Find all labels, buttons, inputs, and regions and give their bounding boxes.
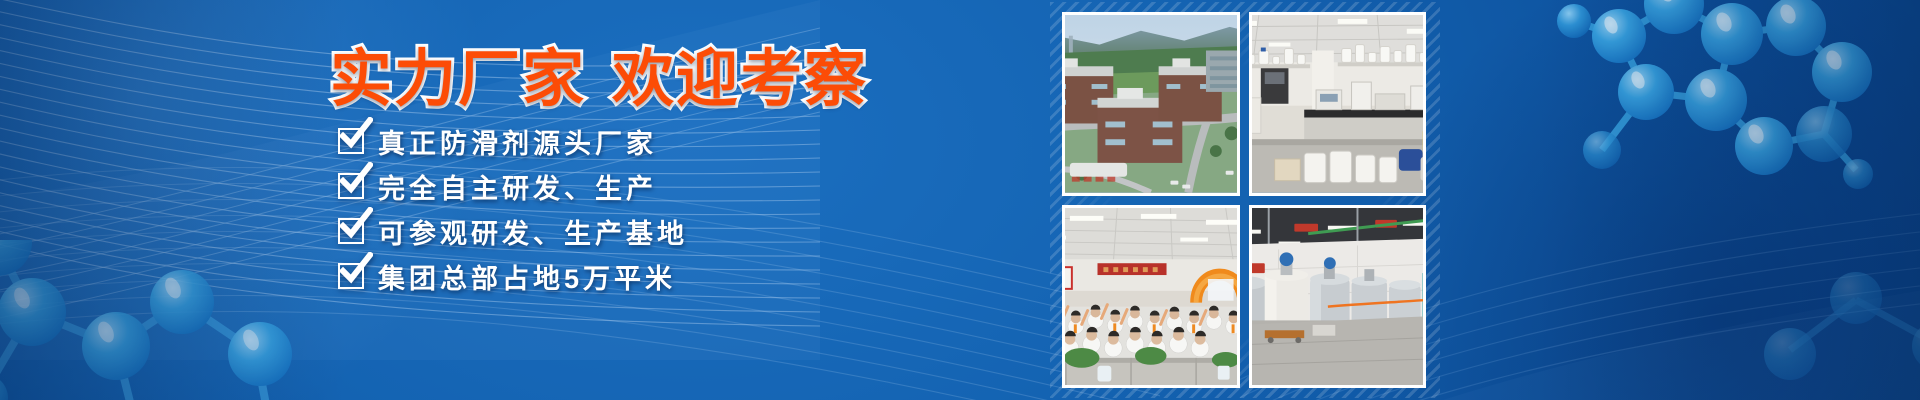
check-mark-icon (339, 162, 373, 196)
bottom-right-shadow (1340, 0, 1920, 400)
list-item: 真正防滑剂源头厂家 (338, 124, 688, 158)
list-item-label: 完全自主研发、生产 (378, 167, 657, 206)
laboratory-image (1252, 15, 1424, 193)
list-item-label: 集团总部占地5万平米 (378, 257, 676, 296)
list-item-label: 可参观研发、生产基地 (378, 212, 688, 251)
checkbox-checked-icon (338, 263, 364, 289)
checkbox-checked-icon (338, 173, 364, 199)
feature-list: 真正防滑剂源头厂家 完全自主研发、生产 可参观研发、生产基地 (338, 124, 688, 293)
list-item: 完全自主研发、生产 (338, 169, 688, 203)
list-item: 可参观研发、生产基地 (338, 214, 688, 248)
list-item: 集团总部占地5万平米 (338, 259, 688, 293)
check-mark-icon (339, 207, 373, 241)
headline-part-2: 欢迎考察 (612, 45, 868, 114)
group-photo-image (1065, 208, 1237, 386)
photo-employee-group-photo-in-office (1062, 205, 1240, 389)
photo-production-workshop-with-reactors (1249, 205, 1427, 389)
list-item-label: 真正防滑剂源头厂家 (378, 122, 657, 161)
page-title: 实力厂家欢迎考察 (330, 28, 868, 118)
headline-part-1: 实力厂家 (330, 45, 586, 114)
checkbox-checked-icon (338, 218, 364, 244)
photo-aerial-view-of-company-campus (1062, 12, 1240, 196)
checkbox-checked-icon (338, 128, 364, 154)
molecule-structure-icon-far-right (1760, 230, 1920, 390)
molecule-structure-icon-right (1494, 0, 1914, 304)
photo-research-laboratory-interior (1249, 12, 1427, 196)
photo-gallery (1062, 12, 1426, 388)
check-mark-icon (339, 252, 373, 286)
text-content-area: 实力厂家欢迎考察 真正防滑剂源头厂家 完全自主研发、生产 (0, 0, 1060, 400)
workshop-image (1252, 208, 1424, 386)
check-mark-icon (339, 117, 373, 151)
aerial-campus-image (1065, 15, 1237, 193)
promotional-banner: 实力厂家欢迎考察 真正防滑剂源头厂家 完全自主研发、生产 (0, 0, 1920, 400)
